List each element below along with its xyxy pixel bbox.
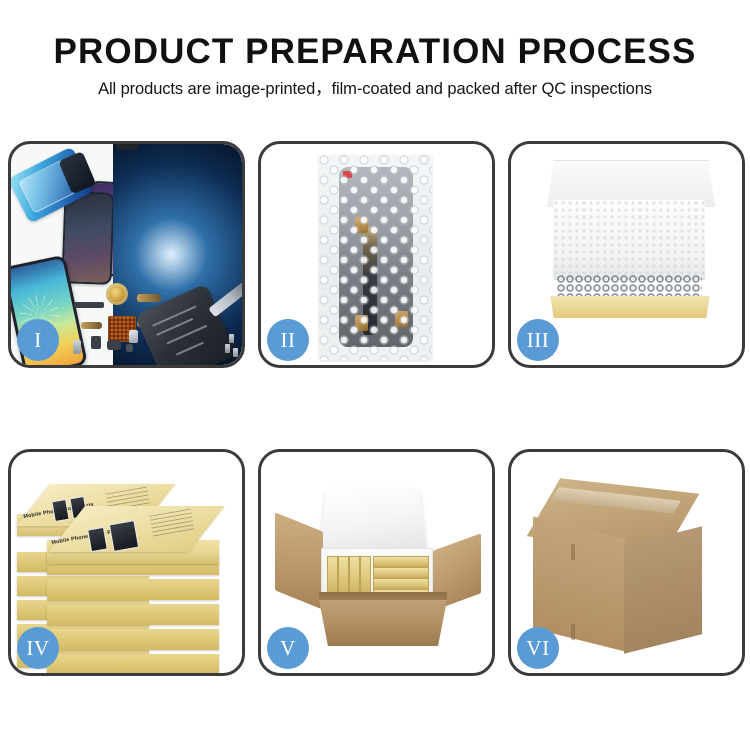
white-foam-pad [553,200,705,280]
step-panel-2: II [258,141,495,368]
screw-3 [229,334,234,343]
phone-dark-gradient [61,191,114,285]
sealed-carton-right-face [624,526,702,653]
step-badge-6: VI [517,627,559,669]
stacked-box-r4 [47,629,219,650]
stacked-box-r2 [47,579,219,600]
sim-tray-part [73,340,81,354]
page-subtitle: All products are image-printed，film-coat… [0,73,750,100]
flex-cable-part-b [81,322,102,329]
screw-1 [225,344,230,353]
bubble-texture [319,155,432,360]
carton-seam-bottom [571,624,575,641]
housing-trace-4 [176,342,204,356]
step-badge-1: I [17,319,59,361]
flex-cable-part-a [137,294,161,302]
screw-2 [233,348,238,357]
foam-texture [553,200,705,280]
step-badge-4: IV [17,627,59,669]
vibrator-part [129,330,138,343]
carton-seam-top [571,544,575,561]
camera-module-part [107,340,121,350]
process-steps-grid: I II III [8,141,742,676]
button-part [91,336,101,349]
stacked-box-r3 [47,604,219,625]
small-connector-part [126,344,133,352]
foam-box-lid [319,488,426,547]
step-badge-5: V [267,627,309,669]
step-panel-4: Mobile Phone Spare Parts Mobile Phone Sp… [8,449,245,676]
step-panel-6: VI [508,449,745,676]
step-badge-3: III [517,319,559,361]
bubble-wrap-bag [319,155,432,360]
box-product-image-front-2 [109,520,139,552]
step-panel-5: V [258,449,495,676]
page-header: PRODUCT PREPARATION PROCESS All products… [0,0,750,100]
step-panel-3: III [508,141,745,368]
housing-trace-1 [152,305,197,326]
step-badge-2: II [267,319,309,361]
page-title: PRODUCT PREPARATION PROCESS [0,0,750,73]
step-panel-1: I [8,141,245,368]
yellow-tray-front-edge [547,296,713,318]
stacked-box-r5 [47,654,219,673]
earpiece-mesh-part [74,302,104,308]
carton-body [319,600,447,646]
speaker-coil-part [106,283,128,305]
